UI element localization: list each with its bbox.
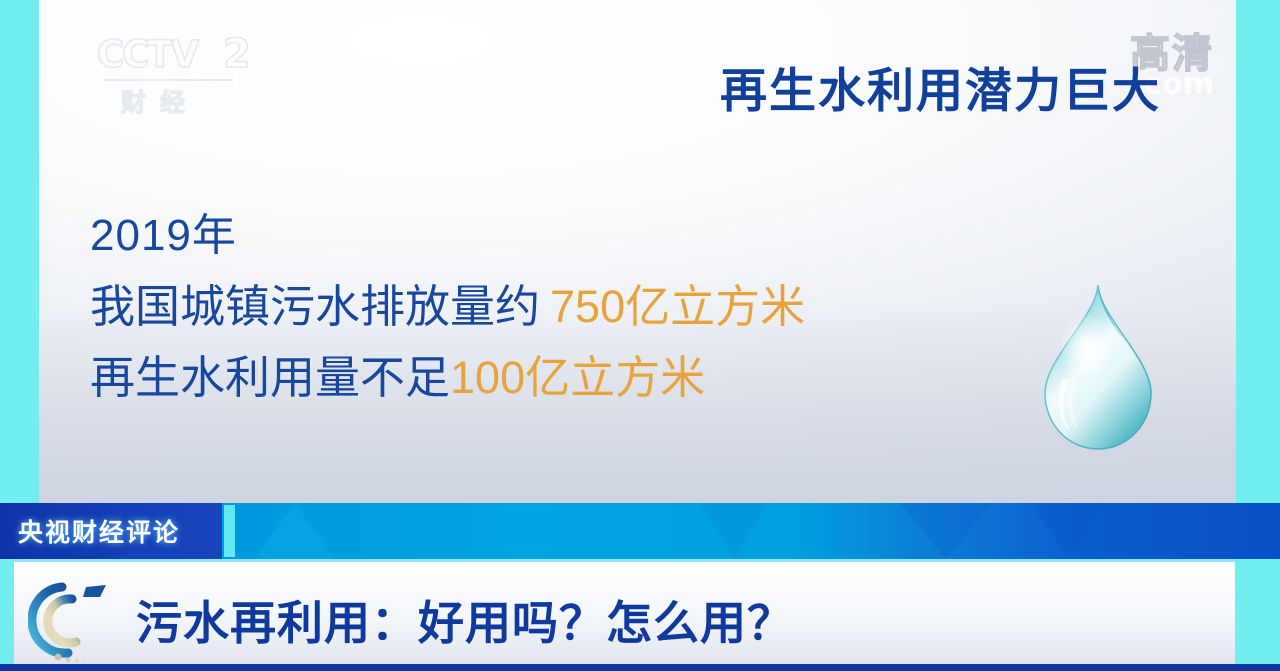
main-stage: CCTV 2 财经 高清 .com 再生水利用潜力巨大 2019年 我国城镇污水…	[39, 0, 1236, 503]
left-frame-strip	[0, 0, 39, 503]
fact-line-prefix: 我国城镇污水排放量约	[90, 281, 540, 332]
fact-line: 再生水利用量不足100亿立方米	[90, 342, 805, 413]
cctv-bug-rule	[103, 79, 233, 81]
band-chevron	[900, 503, 992, 559]
cctv-finance-swoosh-icon	[28, 575, 124, 663]
fact-line-prefix: 2019年	[90, 211, 237, 260]
water-droplet-icon	[1039, 283, 1157, 451]
cctv-bug-subtitle: 财经	[121, 83, 199, 119]
right-frame-strip	[1236, 0, 1280, 503]
fact-line-highlight: 100亿立方米	[450, 352, 705, 403]
fact-block: 2019年 我国城镇污水排放量约750亿立方米 再生水利用量不足100亿立方米	[90, 200, 805, 413]
lower-third-strap: 污水再利用：好用吗？怎么用？	[0, 559, 1280, 671]
strap-right-frame-strip	[1235, 559, 1280, 671]
program-tag-label: 央视财经评论	[18, 513, 180, 549]
strap-left-frame-strip	[0, 559, 14, 671]
program-tag: 央视财经评论	[0, 503, 222, 559]
cctv-channel-number: 2	[223, 34, 251, 74]
strap-headline: 污水再利用：好用吗？怎么用？	[136, 587, 794, 653]
program-tag-accent-bar	[224, 505, 235, 557]
band-chevron	[1030, 503, 1106, 559]
strap-bottom-rule	[0, 664, 1280, 671]
fact-line: 我国城镇污水排放量约750亿立方米	[90, 271, 805, 342]
fact-line-prefix: 再生水利用量不足	[90, 352, 450, 403]
broadcast-screenshot: CCTV 2 财经 高清 .com 再生水利用潜力巨大 2019年 我国城镇污水…	[0, 0, 1280, 671]
band-chevron	[700, 503, 768, 559]
strap-top-rule	[0, 559, 1280, 562]
cctv2-channel-bug: CCTV 2 财经	[97, 36, 257, 116]
stage-title: 再生水利用潜力巨大	[720, 52, 1161, 121]
fact-line-highlight: 750亿立方米	[550, 281, 805, 332]
band-chevron	[255, 503, 335, 559]
fact-line: 2019年	[90, 200, 805, 271]
